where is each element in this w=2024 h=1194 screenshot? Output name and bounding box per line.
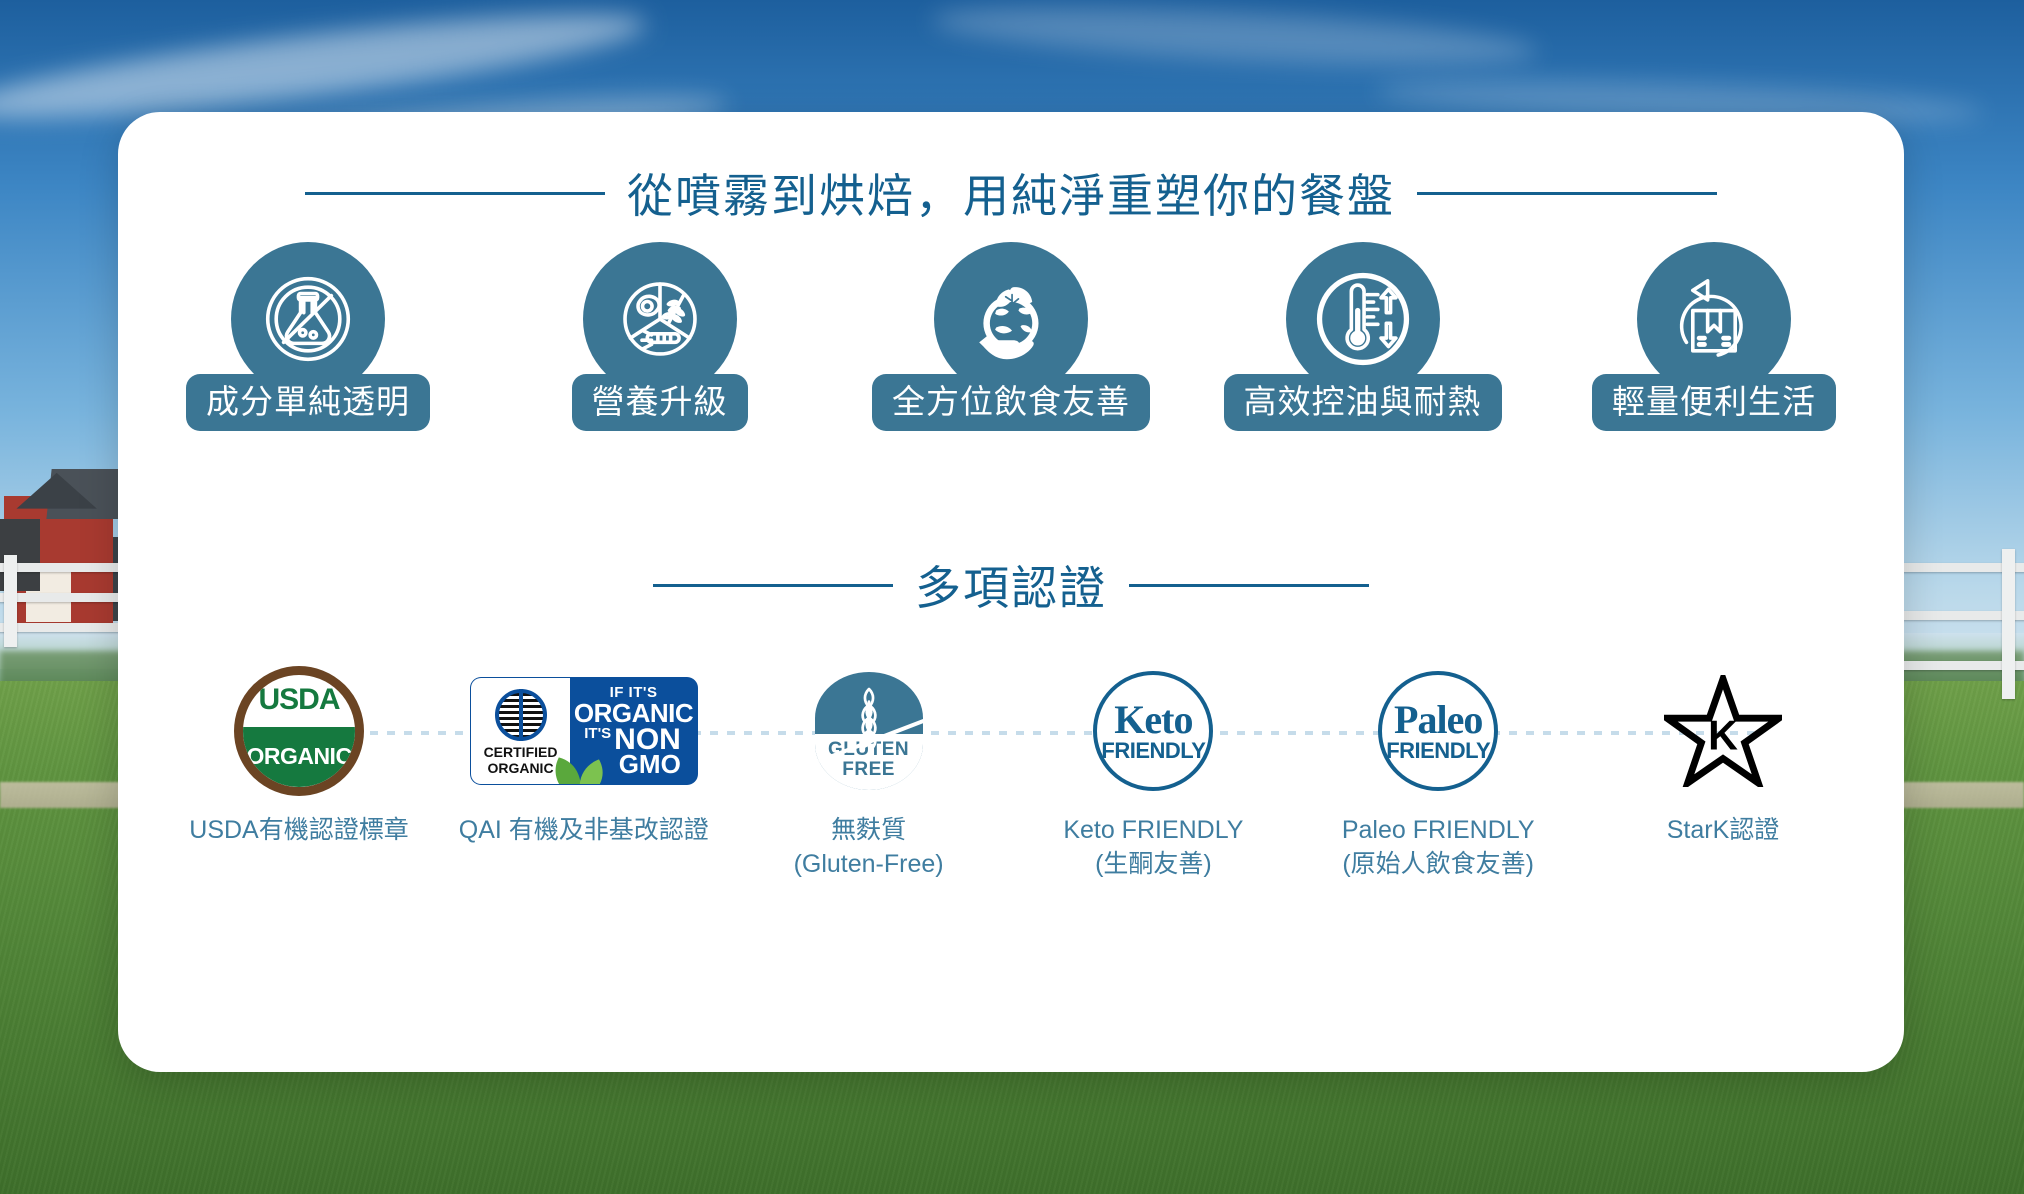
caption-line-2: (原始人飲食友善) [1342, 848, 1535, 882]
certification-item-gluten-free[interactable]: GLUTEN FREE 無麩質 (Gluten-Free) [734, 672, 1004, 882]
friendly-text: FRIENDLY [1386, 740, 1490, 762]
keto-text: Keto [1114, 701, 1192, 739]
content-card: 從噴霧到烘焙，用純淨重塑你的餐盤 成分單純透明 [118, 112, 1904, 1072]
qai-gmo-text: GMO [619, 751, 681, 777]
caption-line-1: QAI 有機及非基改認證 [459, 816, 709, 844]
feature-item-clean-ingredients[interactable]: 成分單純透明 [178, 242, 438, 431]
certification-caption: 無麩質 (Gluten-Free) [794, 814, 944, 882]
certifications-title-text: 多項認證 [915, 552, 1107, 618]
certification-list: USDA ORGANIC USDA有機認證標章 CERTIFIED ORGANI… [138, 672, 1884, 882]
keto-friendly-seal: Keto FRIENDLY [1093, 672, 1213, 790]
certification-item-usda-organic[interactable]: USDA ORGANIC USDA有機認證標章 [164, 672, 434, 848]
page-title: 從噴霧到烘焙，用純淨重塑你的餐盤 [158, 160, 1864, 226]
caption-line-2: (Gluten-Free) [794, 848, 944, 882]
caption-line-1: USDA有機認證標章 [189, 816, 408, 844]
certification-item-keto-friendly[interactable]: Keto FRIENDLY Keto FRIENDLY (生酮友善) [1018, 672, 1288, 882]
feature-list: 成分單純透明 [148, 242, 1874, 431]
star-k-letter: K [1708, 713, 1738, 759]
leaf-icon [544, 738, 618, 784]
certification-item-star-k[interactable]: K StarK認證 [1588, 672, 1858, 848]
gluten-free-seal: GLUTEN FREE [815, 672, 923, 790]
no-chemicals-flask-icon [231, 242, 385, 396]
thermometer-arrows-icon [1286, 242, 1440, 396]
certifications-heading: 多項認證 [158, 552, 1864, 618]
certification-item-qai-organic-non-gmo[interactable]: CERTIFIED ORGANIC IF IT'S ORGANIC IT'S N… [449, 672, 719, 848]
star-icon: K [1664, 675, 1782, 787]
feature-item-heat-resistant[interactable]: 高效控油與耐熱 [1233, 242, 1493, 431]
qai-certified-organic-non-gmo-seal: CERTIFIED ORGANIC IF IT'S ORGANIC IT'S N… [471, 672, 697, 790]
paleo-text: Paleo [1394, 701, 1482, 739]
usda-top-text: USDA [258, 683, 339, 717]
nutrition-plate-icon [583, 242, 737, 396]
feature-label: 全方位飲食友善 [872, 374, 1150, 431]
certification-item-paleo-friendly[interactable]: Paleo FRIENDLY Paleo FRIENDLY (原始人飲食友善) [1303, 672, 1573, 882]
certification-caption: Paleo FRIENDLY (原始人飲食友善) [1342, 814, 1535, 882]
star-k-kosher-seal: K [1664, 672, 1782, 790]
globe-icon [495, 689, 547, 741]
caption-line-1: Paleo FRIENDLY [1342, 816, 1535, 844]
title-rule-right [1417, 192, 1717, 195]
feature-item-diet-friendly[interactable]: 全方位飲食友善 [881, 242, 1141, 431]
caption-line-1: StarK認證 [1667, 816, 1780, 844]
free-text: FREE [815, 760, 923, 781]
feature-item-lightweight-convenient[interactable]: 輕量便利生活 [1584, 242, 1844, 431]
feature-label: 營養升級 [572, 374, 748, 431]
page-title-text: 從噴霧到烘焙，用純淨重塑你的餐盤 [627, 160, 1395, 226]
cert-rule-right [1129, 584, 1369, 587]
eco-globe-leaf-hand-icon [934, 242, 1088, 396]
certification-caption: Keto FRIENDLY (生酮友善) [1063, 814, 1243, 882]
cert-rule-left [653, 584, 893, 587]
caption-line-1: Keto FRIENDLY [1063, 816, 1243, 844]
certification-caption: StarK認證 [1667, 814, 1780, 848]
feature-label: 成分單純透明 [186, 374, 430, 431]
feature-label: 高效控油與耐熱 [1224, 374, 1502, 431]
package-refresh-icon [1637, 242, 1791, 396]
usda-organic-seal: USDA ORGANIC [234, 672, 364, 790]
certification-caption: QAI 有機及非基改認證 [459, 814, 709, 848]
certification-caption: USDA有機認證標章 [189, 814, 408, 848]
friendly-text: FRIENDLY [1101, 740, 1205, 762]
feature-label: 輕量便利生活 [1592, 374, 1836, 431]
paleo-friendly-seal: Paleo FRIENDLY [1378, 672, 1498, 790]
title-rule-left [305, 192, 605, 195]
caption-line-2: (生酮友善) [1063, 848, 1243, 882]
feature-item-nutrition-upgrade[interactable]: 營養升級 [530, 242, 790, 431]
caption-line-1: 無麩質 [831, 816, 906, 844]
usda-bottom-text: ORGANIC [243, 727, 355, 787]
